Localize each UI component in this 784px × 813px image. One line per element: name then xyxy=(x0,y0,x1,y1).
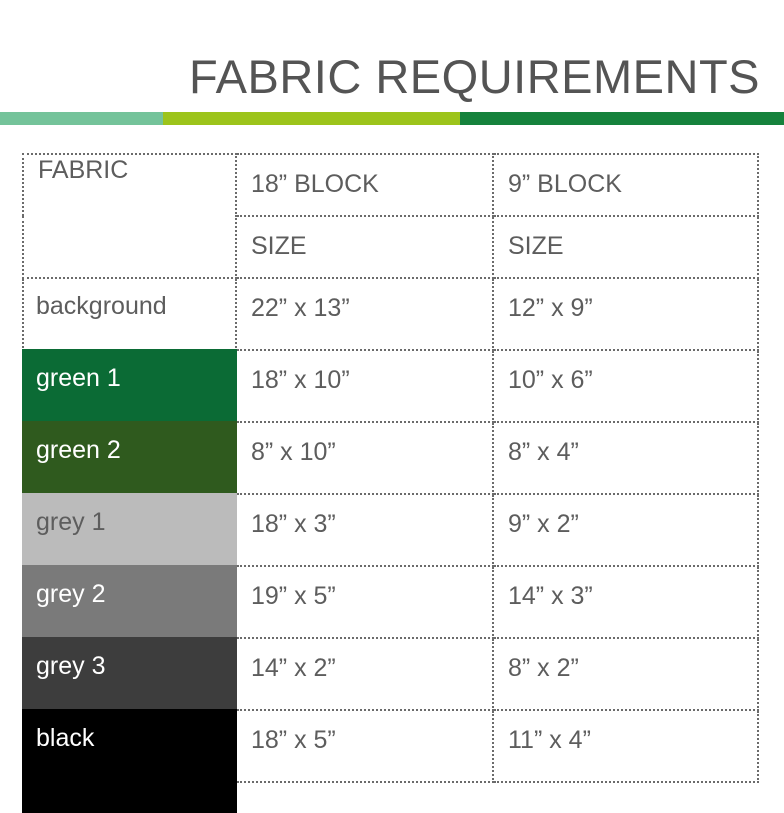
size-cell-18-block: 18” x 10” xyxy=(236,350,493,422)
size-value-9-block: 11” x 4” xyxy=(494,711,757,755)
header-cell-18-block: 18” BLOCK xyxy=(236,154,493,216)
size-cell-18-block: 14” x 2” xyxy=(236,638,493,710)
size-cell-9-block: 14” x 3” xyxy=(493,566,758,638)
size-value-18-block: 18” x 3” xyxy=(237,495,492,539)
table-row: grey 314” x 2”8” x 2” xyxy=(23,638,758,710)
size-cell-18-block: 22” x 13” xyxy=(236,278,493,350)
size-cell-18-block: 19” x 5” xyxy=(236,566,493,638)
header-cell-18-size: SIZE xyxy=(236,216,493,278)
header-label-18-block: 18” BLOCK xyxy=(237,155,492,199)
size-value-18-block: 19” x 5” xyxy=(237,567,492,611)
size-value-18-block: 14” x 2” xyxy=(237,639,492,683)
size-cell-18-block: 18” x 3” xyxy=(236,494,493,566)
table-row: black18” x 5”11” x 4” xyxy=(23,710,758,782)
header-label-9-size: SIZE xyxy=(494,217,757,261)
accent-segment-lime xyxy=(163,112,460,125)
fabric-swatch-cell: background xyxy=(23,278,236,350)
accent-color-bar xyxy=(0,112,784,125)
color-swatch: grey 3 xyxy=(22,637,237,711)
header-label-9-block: 9” BLOCK xyxy=(494,155,757,199)
size-value-9-block: 14” x 3” xyxy=(494,567,757,611)
fabric-name-label: green 2 xyxy=(22,421,121,465)
size-value-18-block: 18” x 5” xyxy=(237,711,492,755)
title-bar: FABRIC REQUIREMENTS xyxy=(0,0,784,110)
fabric-name-label: green 1 xyxy=(22,349,121,393)
size-value-18-block: 18” x 10” xyxy=(237,351,492,395)
size-cell-9-block: 8” x 2” xyxy=(493,638,758,710)
color-swatch: black xyxy=(22,709,237,813)
fabric-swatch-cell: black xyxy=(23,710,236,782)
accent-segment-dark-green xyxy=(460,112,784,125)
table-row: green 118” x 10”10” x 6” xyxy=(23,350,758,422)
size-cell-9-block: 11” x 4” xyxy=(493,710,758,782)
size-value-9-block: 8” x 2” xyxy=(494,639,757,683)
fabric-name-label: grey 3 xyxy=(22,637,105,681)
page-title: FABRIC REQUIREMENTS xyxy=(189,50,760,104)
size-cell-18-block: 8” x 10” xyxy=(236,422,493,494)
size-cell-9-block: 8” x 4” xyxy=(493,422,758,494)
color-swatch: grey 1 xyxy=(22,493,237,567)
table-row: background22” x 13”12” x 9” xyxy=(23,278,758,350)
fabric-swatch-cell: grey 1 xyxy=(23,494,236,566)
fabric-name-label: grey 1 xyxy=(22,493,105,537)
size-value-9-block: 8” x 4” xyxy=(494,423,757,467)
color-swatch: background xyxy=(22,277,237,351)
table-header-row-primary: FABRIC18” BLOCK9” BLOCK xyxy=(23,154,758,216)
size-cell-9-block: 12” x 9” xyxy=(493,278,758,350)
fabric-swatch-cell: grey 2 xyxy=(23,566,236,638)
size-value-9-block: 10” x 6” xyxy=(494,351,757,395)
color-swatch: green 2 xyxy=(22,421,237,495)
size-value-9-block: 9” x 2” xyxy=(494,495,757,539)
size-value-18-block: 22” x 13” xyxy=(237,279,492,323)
fabric-swatch-cell: grey 3 xyxy=(23,638,236,710)
table-row: grey 118” x 3”9” x 2” xyxy=(23,494,758,566)
header-cell-9-block: 9” BLOCK xyxy=(493,154,758,216)
fabric-name-label: background xyxy=(22,277,167,321)
header-cell-9-size: SIZE xyxy=(493,216,758,278)
size-cell-9-block: 10” x 6” xyxy=(493,350,758,422)
header-cell-fabric: FABRIC xyxy=(23,154,236,278)
header-label-fabric: FABRIC xyxy=(24,155,235,203)
fabric-requirements-table: FABRIC18” BLOCK9” BLOCKSIZESIZEbackgroun… xyxy=(22,153,759,783)
accent-segment-teal xyxy=(0,112,163,125)
header-label-18-size: SIZE xyxy=(237,217,492,261)
color-swatch: green 1 xyxy=(22,349,237,423)
fabric-name-label: black xyxy=(22,709,94,753)
fabric-swatch-cell: green 2 xyxy=(23,422,236,494)
fabric-swatch-cell: green 1 xyxy=(23,350,236,422)
size-value-18-block: 8” x 10” xyxy=(237,423,492,467)
size-cell-9-block: 9” x 2” xyxy=(493,494,758,566)
fabric-name-label: grey 2 xyxy=(22,565,105,609)
table-row: grey 219” x 5”14” x 3” xyxy=(23,566,758,638)
size-value-9-block: 12” x 9” xyxy=(494,279,757,323)
table-row: green 28” x 10”8” x 4” xyxy=(23,422,758,494)
color-swatch: grey 2 xyxy=(22,565,237,639)
size-cell-18-block: 18” x 5” xyxy=(236,710,493,782)
